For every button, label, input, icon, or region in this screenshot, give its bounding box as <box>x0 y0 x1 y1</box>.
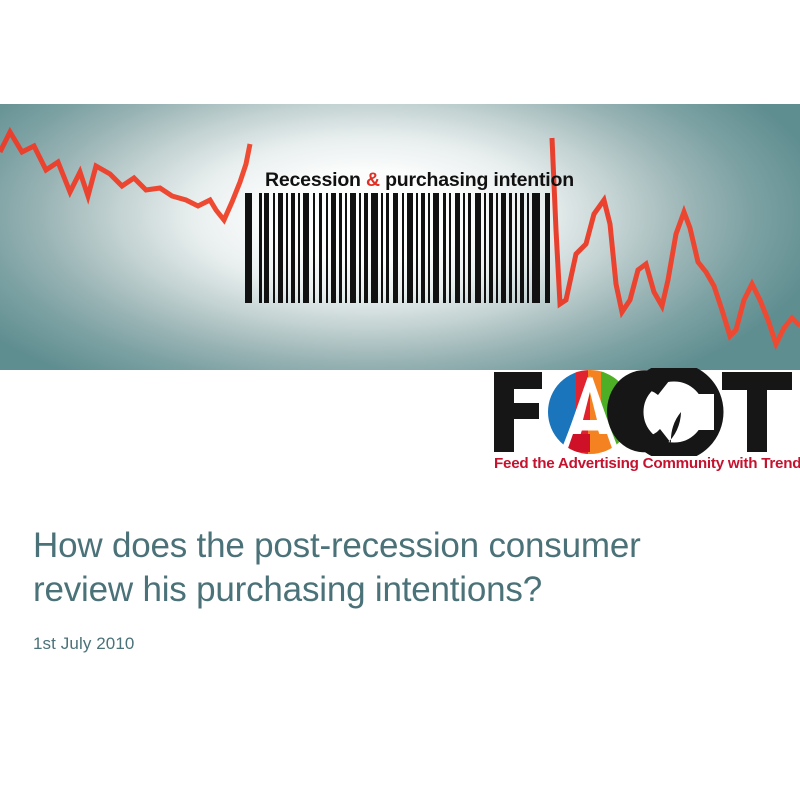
barcode-caption: Recession & purchasing intention <box>265 167 537 193</box>
recession-banner: Recession & purchasing intention <box>0 104 800 370</box>
barcode-bars <box>245 193 557 303</box>
trend-line-left <box>0 132 250 220</box>
barcode-graphic: Recession & purchasing intention <box>245 167 557 303</box>
title-block: How does the post-recession consumer rev… <box>33 524 753 655</box>
trend-line-right <box>552 138 800 344</box>
logo-letter-t-icon <box>722 372 792 452</box>
fact-logo: Feed the Advertising Community with Tren… <box>492 368 794 476</box>
fact-tagline: Feed the Advertising Community with Tren… <box>494 454 794 474</box>
logo-letter-c-icon <box>607 370 714 452</box>
fact-wordmark-graphic <box>492 368 794 456</box>
barcode-caption-prefix: Recession <box>265 169 366 191</box>
slide-date: 1st July 2010 <box>33 612 753 655</box>
title-slide: Recession & purchasing intention <box>0 0 800 800</box>
barcode-caption-ampersand: & <box>366 169 380 191</box>
barcode-caption-suffix: purchasing intention <box>380 169 574 191</box>
logo-letter-f-icon <box>494 372 542 452</box>
page-title: How does the post-recession consumer rev… <box>33 524 753 612</box>
